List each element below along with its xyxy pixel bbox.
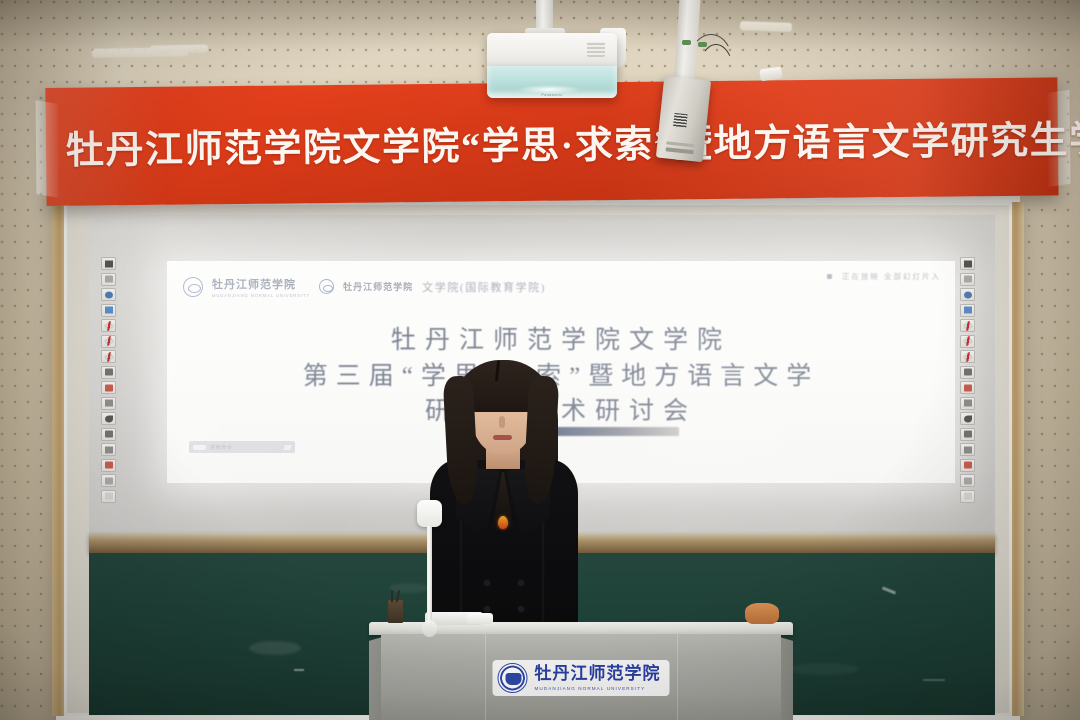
glyph bbox=[964, 384, 972, 391]
projector-brand-label: Panasonic bbox=[541, 93, 562, 97]
projector-lens: Panasonic bbox=[487, 66, 617, 98]
tool-red-stamp-icon[interactable] bbox=[101, 459, 116, 472]
glyph bbox=[105, 291, 113, 298]
slide-note-text: 正在放映 全部幻灯片入 bbox=[842, 271, 941, 282]
slide-header-university-block: 牡丹江师范学院 MUDANJIANG NORMAL UNIVERSITY bbox=[212, 275, 310, 298]
glyph bbox=[964, 446, 972, 453]
tool-curve-icon[interactable] bbox=[960, 412, 975, 425]
tool-blue-pen-icon[interactable] bbox=[960, 288, 975, 301]
slide-university-name-cn-2: 牡丹江师范学院 bbox=[343, 280, 413, 293]
lecture-hall-scene: 牡丹江师范学院 MUDANJIANG NORMAL UNIVERSITY 牡丹江… bbox=[0, 0, 1080, 720]
podium-logo: 牡丹江师范学院 MUDANJIANG NORMAL UNIVERSITY bbox=[493, 660, 670, 696]
slide-university-name-cn: 牡丹江师范学院 bbox=[212, 279, 296, 291]
tool-select-icon[interactable] bbox=[101, 397, 116, 410]
glyph bbox=[964, 400, 972, 407]
nose bbox=[499, 416, 505, 428]
slide-title-line-1: 牡丹江师范学院文学院 bbox=[167, 323, 955, 359]
glyph bbox=[105, 462, 113, 469]
slide-department-name: 文学院(国际教育学院) bbox=[422, 279, 546, 295]
microphone-joint bbox=[422, 620, 437, 637]
glyph bbox=[105, 384, 113, 391]
pen-holder[interactable] bbox=[388, 600, 403, 623]
slide-playback-note: 正在放映 全部幻灯片入 bbox=[827, 271, 941, 282]
tool-red-marker-icon[interactable] bbox=[101, 381, 116, 394]
tool-black-marker-icon[interactable] bbox=[101, 257, 116, 270]
glyph bbox=[103, 351, 114, 361]
glyph bbox=[962, 320, 973, 330]
search-icon bbox=[193, 445, 206, 450]
coat-button bbox=[518, 580, 524, 586]
whiteboard-toolbar-left[interactable] bbox=[101, 257, 116, 503]
glyph bbox=[964, 477, 972, 484]
glyph bbox=[105, 415, 113, 422]
tool-shape-icon[interactable] bbox=[960, 366, 975, 379]
control-box-slot bbox=[666, 147, 694, 154]
chevron-right-icon bbox=[283, 445, 292, 450]
glyph bbox=[964, 291, 972, 298]
glyph bbox=[964, 276, 972, 283]
coat-button bbox=[484, 606, 490, 612]
chalk-mark bbox=[882, 586, 896, 594]
podium-university-name-cn: 牡丹江师范学院 bbox=[535, 664, 661, 683]
glyph bbox=[105, 400, 113, 407]
tool-fill-icon[interactable] bbox=[960, 428, 975, 441]
chalk-smudge bbox=[249, 641, 301, 655]
tool-fill-icon[interactable] bbox=[101, 428, 116, 441]
control-box-slot bbox=[666, 141, 694, 147]
tool-select-icon[interactable] bbox=[960, 397, 975, 410]
orange-object bbox=[745, 603, 779, 624]
tool-black-marker-icon[interactable] bbox=[960, 257, 975, 270]
pen-icon bbox=[391, 590, 393, 602]
tool-settings-icon[interactable] bbox=[960, 474, 975, 487]
tool-red-pen-icon[interactable] bbox=[960, 319, 975, 332]
podium: 牡丹江师范学院 MUDANJIANG NORMAL UNIVERSITY bbox=[369, 622, 793, 720]
tool-settings-icon[interactable] bbox=[101, 474, 116, 487]
small-dish bbox=[467, 613, 493, 624]
glyph bbox=[105, 307, 113, 314]
glyph bbox=[964, 462, 972, 469]
glyph bbox=[964, 431, 972, 438]
tool-red-stamp-icon[interactable] bbox=[960, 459, 975, 472]
glyph bbox=[105, 431, 113, 438]
glyph bbox=[105, 477, 113, 484]
tool-screen-icon[interactable] bbox=[101, 443, 116, 456]
ceiling-light-strip-mid bbox=[150, 44, 208, 53]
slide-search-bar[interactable]: 搜索命令 bbox=[189, 441, 295, 453]
tool-pale-extra-icon[interactable] bbox=[960, 490, 975, 503]
glyph bbox=[964, 415, 972, 422]
glyph bbox=[103, 336, 114, 346]
projected-slide: 牡丹江师范学院 MUDANJIANG NORMAL UNIVERSITY 牡丹江… bbox=[167, 261, 955, 483]
lapel-pin bbox=[498, 516, 508, 529]
microphone-head bbox=[417, 500, 442, 527]
slide-title: 牡丹江师范学院文学院 第三届“学思·求索”暨地方语言文学 研究生学术研讨会 bbox=[167, 323, 955, 430]
cable-clip-icon bbox=[682, 40, 691, 45]
glyph bbox=[964, 493, 972, 500]
tool-pencil-icon[interactable] bbox=[101, 335, 116, 348]
mouth bbox=[493, 435, 512, 440]
podium-university-name-en: MUDANJIANG NORMAL UNIVERSITY bbox=[535, 686, 661, 691]
podium-seam bbox=[485, 634, 486, 720]
coat-button bbox=[518, 606, 524, 612]
tool-pencil-icon[interactable] bbox=[960, 335, 975, 348]
university-crest-icon bbox=[498, 663, 528, 693]
glyph bbox=[105, 446, 113, 453]
glyph bbox=[964, 260, 972, 267]
tool-red-marker-icon[interactable] bbox=[960, 381, 975, 394]
slide-header: 牡丹江师范学院 MUDANJIANG NORMAL UNIVERSITY 牡丹江… bbox=[183, 275, 546, 298]
tool-gray-eraser-icon[interactable] bbox=[960, 273, 975, 286]
podium-seam bbox=[677, 634, 678, 720]
coat-button bbox=[484, 580, 490, 586]
podium-logo-text-block: 牡丹江师范学院 MUDANJIANG NORMAL UNIVERSITY bbox=[535, 665, 661, 691]
tool-blue-pen-icon[interactable] bbox=[101, 288, 116, 301]
microphone-stem bbox=[427, 526, 432, 628]
projector-vent-grille-icon bbox=[587, 42, 605, 57]
glyph bbox=[103, 320, 114, 330]
chalk-mark bbox=[294, 669, 304, 671]
slide-note-dot-icon bbox=[827, 274, 832, 279]
tool-blue-highlighter-icon[interactable] bbox=[960, 304, 975, 317]
qr-code-icon bbox=[673, 113, 687, 127]
tool-brush-icon[interactable] bbox=[960, 350, 975, 363]
chalk-mark bbox=[923, 679, 945, 681]
tool-red-pen-icon[interactable] bbox=[101, 319, 116, 332]
glyph bbox=[105, 493, 113, 500]
glyph bbox=[964, 307, 972, 314]
university-seal-icon-secondary bbox=[319, 279, 334, 294]
slide-university-name-en: MUDANJIANG NORMAL UNIVERSITY bbox=[212, 293, 310, 298]
tool-screen-icon[interactable] bbox=[960, 443, 975, 456]
tool-brush-icon[interactable] bbox=[101, 350, 116, 363]
university-seal-icon bbox=[183, 277, 203, 297]
chalk-smudge bbox=[389, 583, 429, 593]
search-input-placeholder[interactable]: 搜索命令 bbox=[210, 444, 280, 451]
chalk-smudge bbox=[789, 663, 859, 675]
wall-control-box[interactable] bbox=[656, 76, 711, 162]
tool-blue-highlighter-icon[interactable] bbox=[101, 304, 116, 317]
cable-clip-icon bbox=[698, 42, 707, 47]
glyph bbox=[964, 369, 972, 376]
glyph bbox=[105, 369, 113, 376]
slide-title-line-2: 第三届“学思·求索”暨地方语言文学 bbox=[167, 359, 955, 395]
ceiling-light-strip-right bbox=[740, 21, 792, 32]
glyph bbox=[962, 336, 973, 346]
banner-title-text: 牡丹江师范学院文学院“学思·求索”暨地方语言文学研究生学术研讨会 bbox=[46, 109, 1059, 175]
glyph bbox=[105, 260, 113, 267]
slide-title-line-3: 研究生学术研讨会 bbox=[167, 394, 955, 430]
tool-pale-extra-icon[interactable] bbox=[101, 490, 116, 503]
glyph bbox=[962, 351, 973, 361]
glyph bbox=[105, 276, 113, 283]
whiteboard-toolbar-right[interactable] bbox=[960, 257, 975, 503]
tool-shape-icon[interactable] bbox=[101, 366, 116, 379]
tool-gray-eraser-icon[interactable] bbox=[101, 273, 116, 286]
tool-curve-icon[interactable] bbox=[101, 412, 116, 425]
